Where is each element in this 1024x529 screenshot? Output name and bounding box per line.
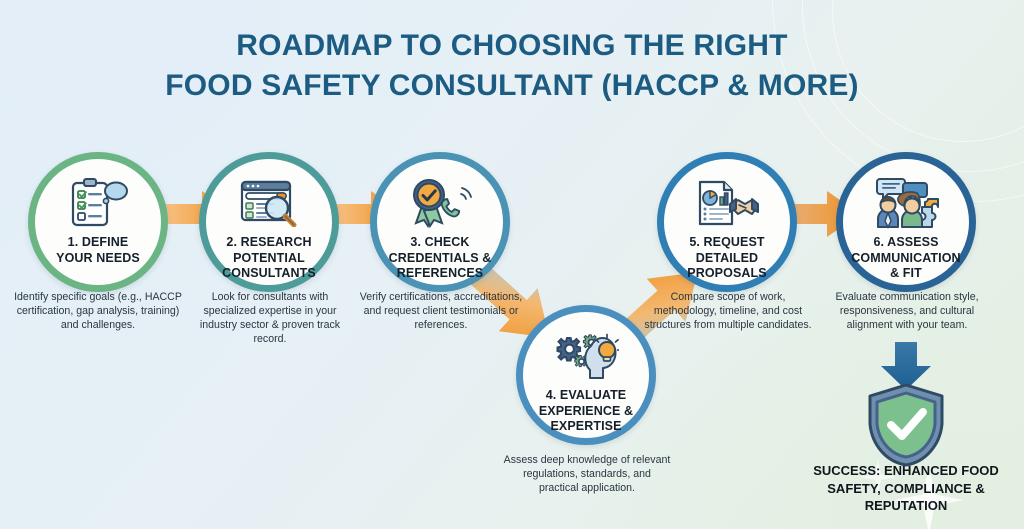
step-1-circle[interactable]: 1. DEFINE YOUR NEEDS (28, 152, 168, 292)
step-5-circle[interactable]: 5. REQUEST DETAILED PROPOSALS (657, 152, 797, 292)
browser-search-icon (238, 175, 300, 231)
success-text: SUCCESS: ENHANCED FOOD SAFETY, COMPLIANC… (786, 462, 1024, 515)
award-badge-phone-icon (408, 175, 472, 231)
step-5-title: 5. REQUEST DETAILED PROPOSALS (679, 235, 774, 282)
page-title-line-2: FOOD SAFETY CONSULTANT (HACCP & MORE) (0, 66, 1024, 106)
shield-check-icon (864, 382, 948, 468)
step-2-circle[interactable]: 2. RESEARCH POTENTIAL CONSULTANTS (199, 152, 339, 292)
step-4-circle[interactable]: 4. EVALUATE EXPERIENCE & EXPERTISE (516, 305, 656, 445)
step-3-circle[interactable]: 3. CHECK CREDENTIALS & REFERENCES (370, 152, 510, 292)
step-4-caption: Assess deep knowledge of relevant regula… (503, 453, 671, 495)
page-title: ROADMAP TO CHOOSING THE RIGHT FOOD SAFET… (0, 26, 1024, 105)
step-5-caption: Compare scope of work, methodology, time… (644, 290, 812, 332)
infographic-canvas: ROADMAP TO CHOOSING THE RIGHT FOOD SAFET… (0, 0, 1024, 529)
step-2-caption: Look for consultants with specialized ex… (186, 290, 354, 346)
step-3-caption: Verify certifications, accreditations, a… (357, 290, 525, 332)
gears-head-lightbulb-icon (553, 328, 619, 384)
step-1-title: 1. DEFINE YOUR NEEDS (48, 235, 148, 266)
clipboard-checklist-thought-icon (67, 175, 129, 231)
people-speech-puzzle-icon (872, 175, 940, 231)
step-6-caption: Evaluate communication style, responsive… (818, 290, 996, 332)
page-title-line-1: ROADMAP TO CHOOSING THE RIGHT (0, 26, 1024, 66)
step-1-caption: Identify specific goals (e.g., HACCP cer… (10, 290, 186, 332)
step-4-title: 4. EVALUATE EXPERIENCE & EXPERTISE (531, 388, 641, 435)
report-handshake-icon (694, 175, 760, 231)
step-3-title: 3. CHECK CREDENTIALS & REFERENCES (381, 235, 500, 282)
step-2-title: 2. RESEARCH POTENTIAL CONSULTANTS (214, 235, 324, 282)
step-6-circle[interactable]: 6. ASSESS COMMUNICATION & FIT (836, 152, 976, 292)
step-6-title: 6. ASSESS COMMUNICATION & FIT (843, 235, 968, 282)
